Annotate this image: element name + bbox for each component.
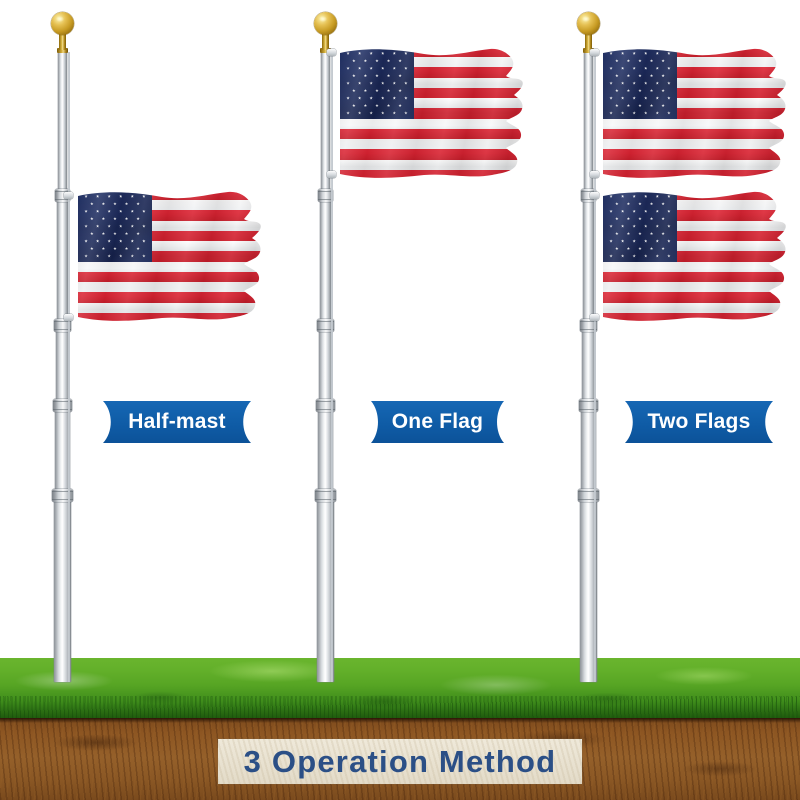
flag-clip xyxy=(327,171,336,178)
caption-text: 3 Operation Method xyxy=(244,744,557,780)
pole-section xyxy=(582,326,595,410)
label-ribbon-half-mast: Half-mast xyxy=(103,401,251,443)
us-flag xyxy=(78,190,263,323)
flag-stars xyxy=(340,47,414,119)
flag-clip xyxy=(590,192,599,199)
flag-cloth xyxy=(340,47,525,180)
flag-clip xyxy=(590,314,599,321)
finial-highlight xyxy=(56,16,64,22)
pole-section xyxy=(56,326,69,410)
flag-canton xyxy=(603,190,677,262)
label-ribbon-two-flags: Two Flags xyxy=(625,401,773,443)
pole-section xyxy=(583,196,594,330)
caption-banner: 3 Operation Method xyxy=(218,739,582,784)
grass-layer xyxy=(0,658,800,718)
label-ribbon-text: One Flag xyxy=(392,410,483,434)
label-ribbon-text: Half-mast xyxy=(128,410,226,434)
flag-cloth xyxy=(78,190,263,323)
flag-stars xyxy=(603,190,677,262)
halyard-rod xyxy=(331,52,333,682)
flag-canton xyxy=(78,190,152,262)
flag-canton xyxy=(603,47,677,119)
pole-section xyxy=(58,52,67,200)
gold-ball-finial xyxy=(314,12,337,35)
pole-section xyxy=(57,196,68,330)
flag-clip xyxy=(327,49,336,56)
flag-clip xyxy=(590,49,599,56)
label-ribbon-text: Two Flags xyxy=(648,410,751,434)
gold-ball-finial xyxy=(577,12,600,35)
halyard-rod xyxy=(68,52,70,682)
infographic-scene: Half-mastOne FlagTwo Flags 3 Operation M… xyxy=(0,0,800,800)
flag-cloth xyxy=(603,47,788,180)
finial-highlight xyxy=(319,16,327,22)
flag-canton xyxy=(340,47,414,119)
pole-section xyxy=(319,326,332,410)
us-flag xyxy=(603,190,788,323)
flag-stars xyxy=(603,47,677,119)
us-flag xyxy=(603,47,788,180)
finial-highlight xyxy=(582,16,590,22)
soil-surface-edge xyxy=(0,718,800,723)
flag-stars xyxy=(78,190,152,262)
flag-cloth xyxy=(603,190,788,323)
flag-clip xyxy=(64,314,73,321)
flag-clip xyxy=(64,192,73,199)
us-flag xyxy=(340,47,525,180)
grass-blades xyxy=(0,696,800,718)
flag-clip xyxy=(590,171,599,178)
halyard-rod xyxy=(594,52,596,682)
label-ribbon-one-flag: One Flag xyxy=(371,401,504,443)
gold-ball-finial xyxy=(51,12,74,35)
pole-section xyxy=(320,196,331,330)
